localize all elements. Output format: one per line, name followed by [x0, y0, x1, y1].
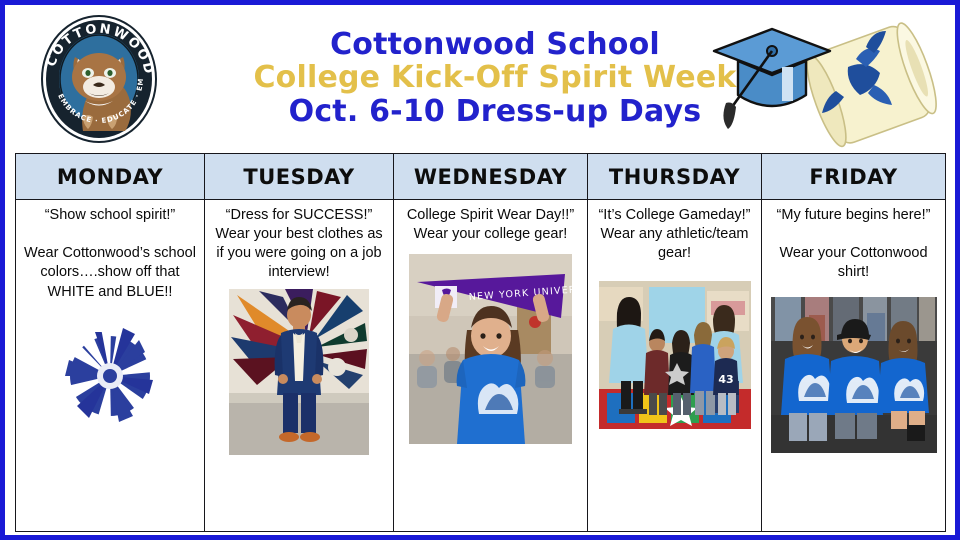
- day-cell-friday: “My future begins here!” Wear your Cotto…: [762, 200, 946, 532]
- photo-student-in-suit: [229, 289, 369, 455]
- day-label: Friday: [809, 165, 897, 189]
- photo-students-in-cottonwood-shirts: [771, 297, 937, 453]
- table-content-row: “Show school spirit!” Wear Cottonwood’s …: [16, 200, 946, 532]
- jersey-number: 43: [718, 373, 733, 386]
- day-description: “It’s College Gameday!” Wear any athleti…: [595, 206, 754, 263]
- spirit-week-table: Monday Tuesday Wednesday Thursday Friday: [15, 153, 946, 532]
- flyer-header: COTTONWOOD SCHOOL EMBRACE · EDUCATE · EM…: [5, 5, 955, 151]
- day-cell-monday: “Show school spirit!” Wear Cottonwood’s …: [16, 200, 205, 532]
- title-line-dates: Oct. 6-10 Dress-up Days: [253, 96, 736, 127]
- day-cell-thursday: “It’s College Gameday!” Wear any athleti…: [588, 200, 762, 532]
- day-header-friday: Friday: [762, 154, 946, 200]
- day-label: Monday: [57, 165, 163, 189]
- day-cell-tuesday: “Dress for SUCCESS!” Wear your best clot…: [205, 200, 394, 532]
- title-line-event: College Kick-Off Spirit Week: [253, 62, 736, 93]
- photo-class-in-team-jerseys: 43: [599, 281, 751, 429]
- day-label: Wednesday: [414, 165, 567, 189]
- flyer-title-block: Cottonwood School College Kick-Off Spiri…: [213, 29, 746, 127]
- day-label: Tuesday: [243, 165, 354, 189]
- day-description: “Dress for SUCCESS!” Wear your best clot…: [212, 206, 386, 283]
- day-header-tuesday: Tuesday: [205, 154, 394, 200]
- day-label: Thursday: [609, 165, 740, 189]
- day-description: “My future begins here!” Wear your Cotto…: [769, 206, 938, 283]
- day-cell-wednesday: College Spirit Wear Day!!” Wear your col…: [394, 200, 588, 532]
- photo-blue-white-pompom: [49, 314, 171, 432]
- spirit-week-flyer: COTTONWOOD SCHOOL EMBRACE · EDUCATE · EM…: [0, 0, 960, 540]
- title-line-school: Cottonwood School: [253, 29, 736, 60]
- photo-student-with-nyu-pennant: NEW YORK UNIVERSITY: [409, 254, 572, 444]
- school-logo: COTTONWOOD SCHOOL EMBRACE · EDUCATE · EM…: [33, 13, 165, 145]
- day-description: College Spirit Wear Day!!” Wear your col…: [401, 206, 580, 244]
- day-header-wednesday: Wednesday: [394, 154, 588, 200]
- day-header-thursday: Thursday: [588, 154, 762, 200]
- table-header-row: Monday Tuesday Wednesday Thursday Friday: [16, 154, 946, 200]
- day-header-monday: Monday: [16, 154, 205, 200]
- day-description: “Show school spirit!” Wear Cottonwood’s …: [23, 206, 197, 302]
